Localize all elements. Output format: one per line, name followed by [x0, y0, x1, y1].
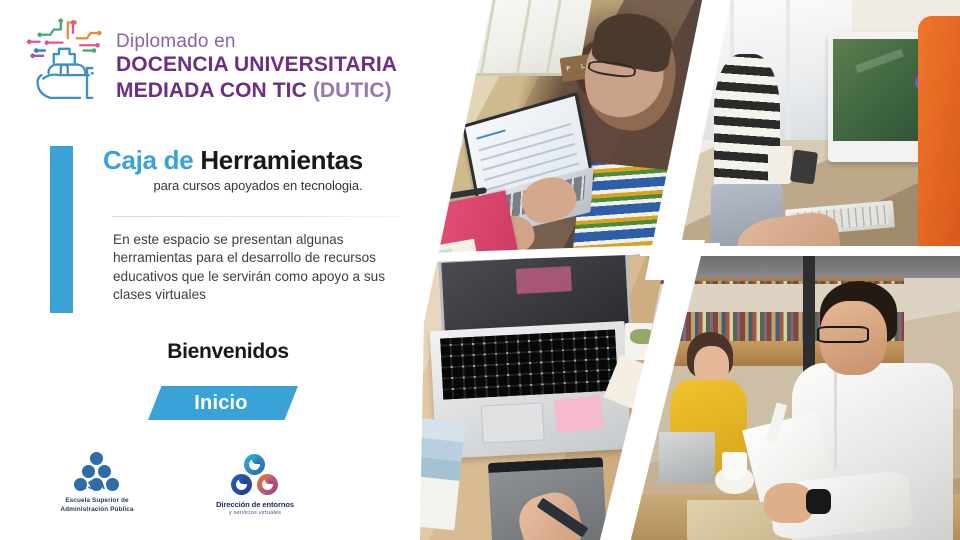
- esap-caption-1: Escuela Superior de: [42, 497, 152, 505]
- content-panel: Diplomado en DOCENCIA UNIVERSITARIA MEDI…: [0, 0, 470, 540]
- cup-and-saucer: [715, 466, 754, 495]
- esap-dot-pyramid-icon: ESAP: [42, 452, 152, 496]
- inicio-button-label: Inicio: [194, 392, 247, 415]
- brand-line-1: Diplomado en: [116, 32, 397, 52]
- esap-logo: ESAP Escuela Superior de Administración …: [42, 452, 152, 514]
- footer-logos: ESAP Escuela Superior de Administración …: [0, 452, 420, 534]
- page-title-blue: Caja de: [103, 145, 193, 175]
- esap-wordmark: ESAP: [42, 478, 152, 492]
- esap-caption-2: Administración Pública: [42, 506, 152, 514]
- accent-bar: [50, 146, 73, 313]
- pink-sticky-note: [553, 395, 604, 434]
- intro-paragraph: En este espacio se presentan algunas her…: [113, 231, 388, 305]
- welcome-heading: Bienvenidos: [103, 340, 353, 364]
- brand-wordmark: Diplomado en DOCENCIA UNIVERSITARIA MEDI…: [116, 12, 397, 103]
- brand-line-3: MEDIADA CON TIC (DUTIC): [116, 78, 397, 104]
- man-eyeglasses: [817, 326, 870, 343]
- slide-canvas: PLAN: [0, 0, 960, 540]
- hand-holding-school-circuit-icon: [22, 12, 110, 104]
- orange-chair: [918, 16, 960, 270]
- brand-logo: Diplomado en DOCENCIA UNIVERSITARIA MEDI…: [22, 12, 397, 104]
- coffee-cup: [768, 146, 792, 184]
- brand-line-3-bold: MEDIADA CON TIC: [116, 79, 307, 102]
- page-title: Caja de Herramientas: [103, 146, 403, 175]
- horizontal-divider-right: [640, 246, 960, 256]
- divider-line: [112, 216, 400, 217]
- three-swirl-circles-icon: [196, 454, 314, 498]
- page-title-dark: Herramientas: [200, 145, 363, 175]
- trackpad: [480, 403, 544, 445]
- inicio-button[interactable]: Inicio: [148, 386, 298, 420]
- wristwatch: [806, 489, 831, 515]
- brand-acronym: (DUTIC): [313, 79, 392, 102]
- brand-line-2: DOCENCIA UNIVERSITARIA: [116, 52, 397, 78]
- woman-laptop: [659, 432, 715, 483]
- direccion-logo: Dirección de entornos y servicios virtua…: [196, 454, 314, 516]
- direccion-caption-1: Dirección de entornos: [196, 500, 314, 509]
- desk-lamp: [790, 150, 818, 185]
- direccion-caption-2: y servicios virtuales: [196, 510, 314, 516]
- page-subtitle: para cursos apoyados en tecnologia.: [103, 178, 413, 193]
